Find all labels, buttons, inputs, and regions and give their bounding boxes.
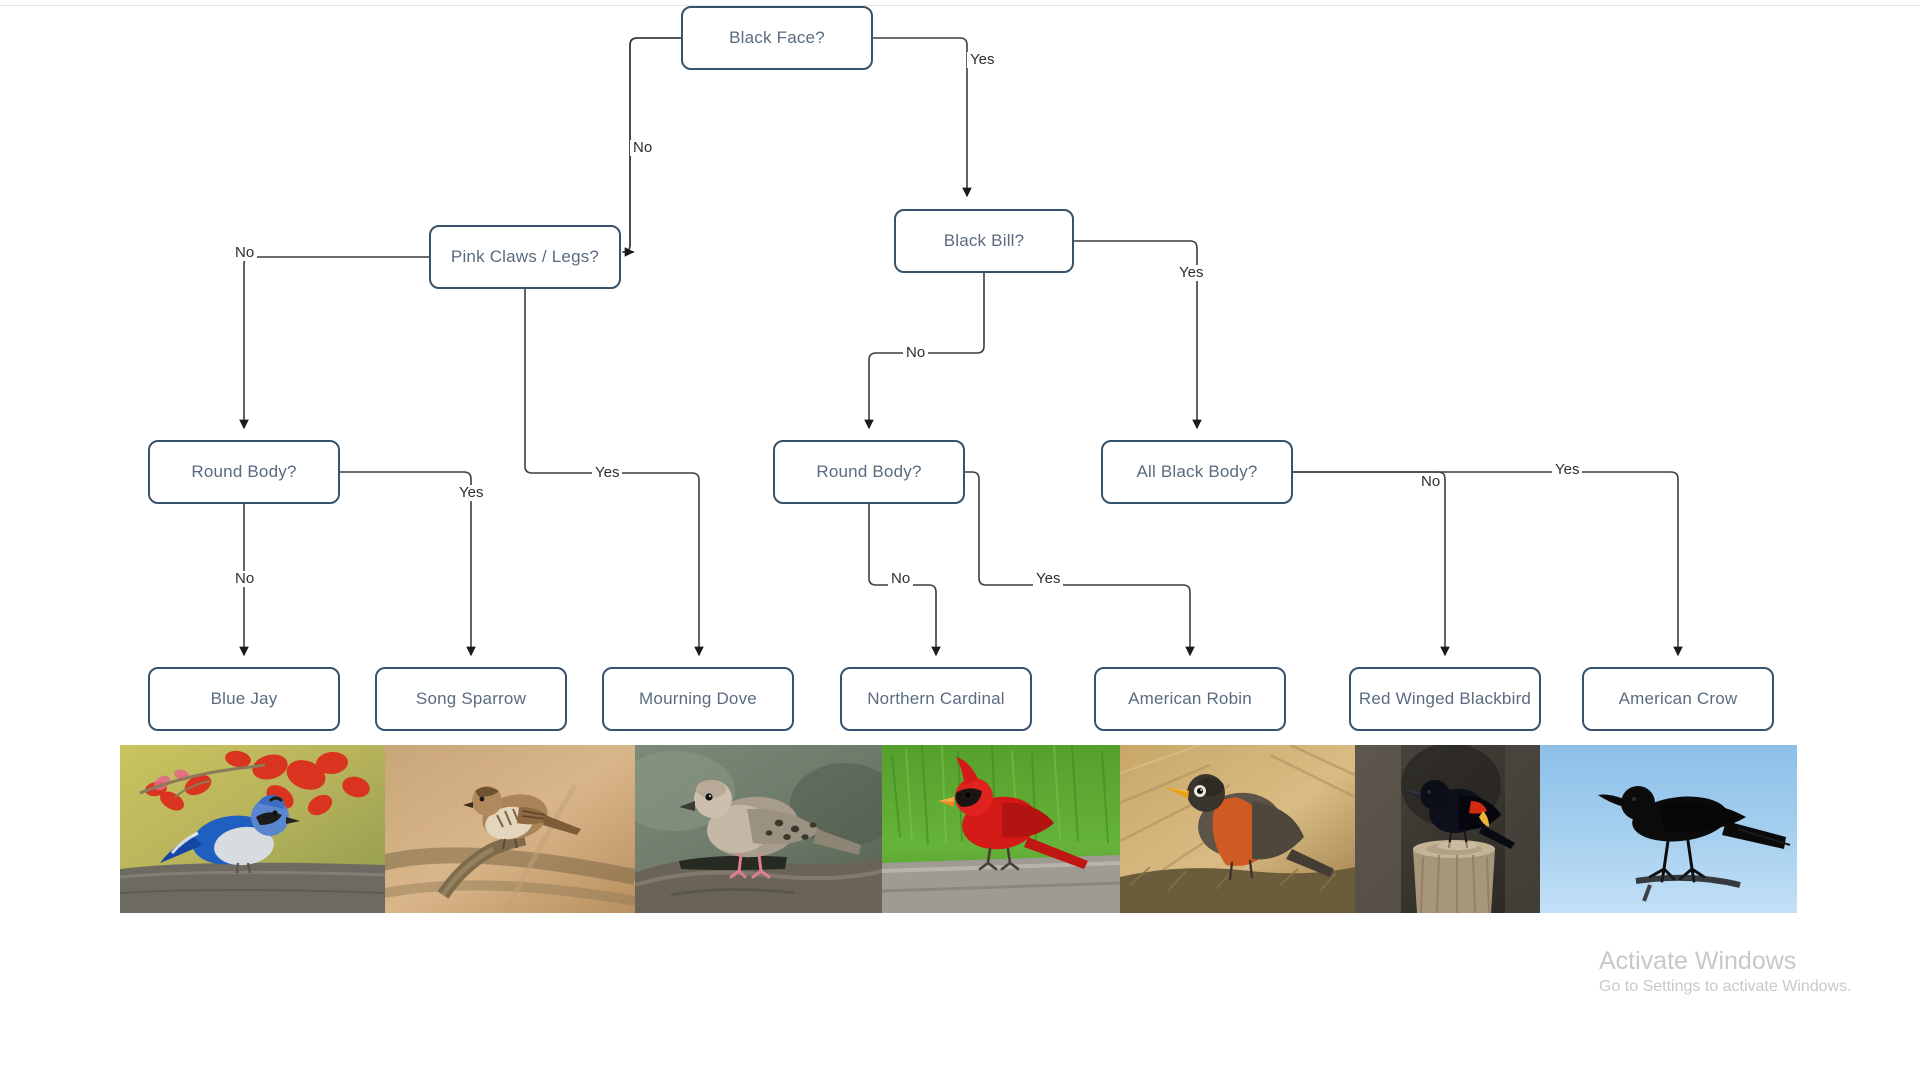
- node-round-body-right[interactable]: Round Body?: [773, 440, 965, 504]
- activate-windows-watermark: Activate Windows Go to Settings to activ…: [1599, 946, 1852, 998]
- photo-mourning-dove: [635, 745, 882, 913]
- photo-northern-cardinal: [882, 745, 1120, 913]
- node-red-winged-blackbird[interactable]: Red Winged Blackbird: [1349, 667, 1541, 731]
- edge-label-black-face-yes: Yes: [967, 52, 997, 68]
- node-label: Black Face?: [729, 28, 825, 48]
- node-northern-cardinal[interactable]: Northern Cardinal: [840, 667, 1032, 731]
- app-root: Black Face? Pink Claws / Legs? Black Bil…: [0, 0, 1920, 1080]
- node-label: Round Body?: [816, 462, 921, 482]
- node-black-face[interactable]: Black Face?: [681, 6, 873, 70]
- node-label: Blue Jay: [211, 689, 278, 709]
- node-blue-jay[interactable]: Blue Jay: [148, 667, 340, 731]
- node-label: Mourning Dove: [639, 689, 757, 709]
- node-all-black-body[interactable]: All Black Body?: [1101, 440, 1293, 504]
- photo-red-winged-blackbird: [1355, 745, 1540, 913]
- edge-label-pink-claws-no: No: [232, 245, 257, 261]
- edge-label-round-body-r-no: No: [888, 571, 913, 587]
- edge-all-black-yes: [1293, 472, 1678, 655]
- node-label: American Crow: [1619, 689, 1738, 709]
- node-round-body-left[interactable]: Round Body?: [148, 440, 340, 504]
- node-mourning-dove[interactable]: Mourning Dove: [602, 667, 794, 731]
- edge-round-body-l-yes: [340, 472, 471, 655]
- edge-label-black-face-no: No: [630, 140, 655, 156]
- node-label: Round Body?: [191, 462, 296, 482]
- node-label: All Black Body?: [1136, 462, 1257, 482]
- node-label: Northern Cardinal: [867, 689, 1005, 709]
- photo-song-sparrow: [385, 745, 635, 913]
- node-label: Red Winged Blackbird: [1359, 689, 1531, 709]
- edge-label-round-body-r-yes: Yes: [1033, 571, 1063, 587]
- watermark-subtitle: Go to Settings to activate Windows.: [1599, 976, 1852, 998]
- bird-photo-strip: [120, 745, 1797, 913]
- edge-label-all-black-yes: Yes: [1552, 462, 1582, 478]
- photo-blue-jay: [120, 745, 385, 913]
- edge-black-face-yes: [873, 38, 967, 196]
- photo-american-crow: [1540, 745, 1797, 913]
- edge-layer: [0, 0, 1920, 1080]
- photo-american-robin: [1120, 745, 1355, 913]
- edge-label-black-bill-no: No: [903, 345, 928, 361]
- node-song-sparrow[interactable]: Song Sparrow: [375, 667, 567, 731]
- watermark-title: Activate Windows: [1599, 946, 1852, 976]
- edge-pink-claws-no: [244, 257, 429, 428]
- edge-label-round-body-l-yes: Yes: [456, 485, 486, 501]
- node-label: Black Bill?: [944, 231, 1025, 251]
- node-label: Song Sparrow: [416, 689, 526, 709]
- edge-label-pink-claws-yes: Yes: [592, 465, 622, 481]
- edge-label-all-black-no: No: [1418, 474, 1443, 490]
- node-label: Pink Claws / Legs?: [451, 247, 599, 267]
- edge-label-round-body-l-no: No: [232, 571, 257, 587]
- node-american-robin[interactable]: American Robin: [1094, 667, 1286, 731]
- node-black-bill[interactable]: Black Bill?: [894, 209, 1074, 273]
- edge-label-black-bill-yes: Yes: [1176, 265, 1206, 281]
- edge-all-black-no: [1293, 472, 1445, 655]
- node-american-crow[interactable]: American Crow: [1582, 667, 1774, 731]
- node-label: American Robin: [1128, 689, 1252, 709]
- diagram-canvas[interactable]: Black Face? Pink Claws / Legs? Black Bil…: [0, 0, 1920, 1080]
- node-pink-claws-legs[interactable]: Pink Claws / Legs?: [429, 225, 621, 289]
